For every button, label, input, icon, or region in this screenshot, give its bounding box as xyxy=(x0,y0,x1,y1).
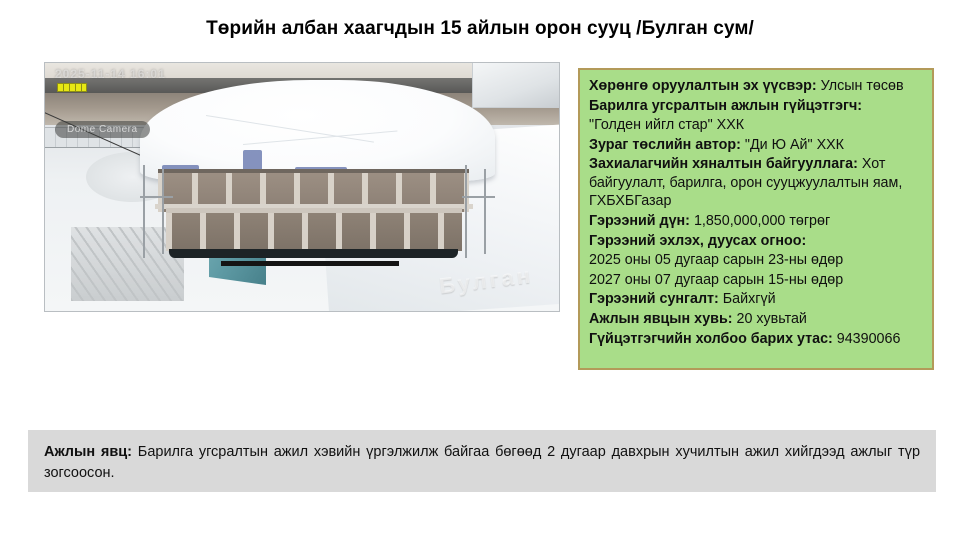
foreground-dark-bar xyxy=(221,261,399,266)
contract-amount-label: Гэрээний дүн: xyxy=(589,213,690,229)
first-floor-columns xyxy=(166,213,462,251)
designer-label: Зураг төслийн автор: xyxy=(589,137,741,153)
designer-value: "Ди Ю Ай" ХХК xyxy=(745,137,844,153)
info-row-extension: Гэрээний сунгалт: Байхгүй xyxy=(589,290,923,309)
contractor-label: Барилга угсралтын ажлын гүйцэтгэгч: xyxy=(589,98,862,114)
info-row-designer: Зураг төслийн автор: "Ди Ю Ай" ХХК xyxy=(589,136,923,155)
progress-value: 20 хувьтай xyxy=(737,311,807,327)
scaffold-rail-left xyxy=(140,196,173,198)
info-row-contract-amount: Гэрээний дүн: 1,850,000,000 төгрөг xyxy=(589,212,923,231)
status-label: Ажлын явц: xyxy=(44,444,132,460)
funding-source-value: Улсын төсөв xyxy=(821,78,904,94)
extension-label: Гэрээний сунгалт: xyxy=(589,291,719,307)
funding-source-label: Хөрөнгө оруулалтын эх үүсвэр: xyxy=(589,78,817,94)
phone-label: Гүйцэтгэгчийн холбоо барих утас: xyxy=(589,331,833,347)
contract-dates-label: Гэрээний эхлэх, дуусах огноо: xyxy=(589,233,806,249)
extension-value: Байхгүй xyxy=(723,291,776,307)
status-text: Барилга угсралтын ажил хэвийн үргэлжилж … xyxy=(44,444,920,481)
phone-value: 94390066 xyxy=(837,331,901,347)
contract-start-date: 2025 оны 05 дугаар сарын 23-ны өдөр xyxy=(589,251,923,270)
project-info-panel: Хөрөнгө оруулалтын эх үүсвэр: Улсын төсө… xyxy=(578,68,934,370)
info-row-contractor: Барилга угсралтын ажлын гүйцэтгэгч: xyxy=(589,97,923,116)
contract-amount-value: 1,850,000,000 төгрөг xyxy=(694,213,830,229)
info-row-funding-source: Хөрөнгө оруулалтын эх үүсвэр: Улсын төсө… xyxy=(589,77,923,96)
camera-label: Dome Camera xyxy=(55,121,150,138)
info-row-phone: Гүйцэтгэгчийн холбоо барих утас: 9439006… xyxy=(589,330,923,349)
work-progress-statusbar: Ажлын явц: Барилга угсралтын ажил хэвийн… xyxy=(28,430,936,492)
building-base-shadow xyxy=(169,249,458,259)
first-floor-frame xyxy=(166,208,462,251)
scaffold-right-2 xyxy=(484,169,486,254)
building-under-construction xyxy=(132,80,502,273)
photo-canvas: 2025-11-14 16:01 Dome Camera Булган xyxy=(45,63,559,311)
progress-label: Ажлын явцын хувь: xyxy=(589,311,733,327)
photo-corner-inset xyxy=(472,63,559,108)
contract-end-date: 2027 оны 07 дугаар сарын 15-ны өдөр xyxy=(589,271,923,290)
scaffold-left-2 xyxy=(162,169,164,254)
scaffold-left-1 xyxy=(143,165,145,258)
scaffold-rail-right xyxy=(462,196,495,198)
info-row-contract-dates: Гэрээний эхлэх, дуусах огноо: xyxy=(589,232,923,251)
scaffold-right-1 xyxy=(465,165,467,258)
site-photo: 2025-11-14 16:01 Dome Camera Булган xyxy=(44,62,560,312)
supervisor-label: Захиалагчийн хяналтын байгууллага: xyxy=(589,156,858,172)
page-title: Төрийн албан хаагчдын 15 айлын орон сууц… xyxy=(0,18,960,40)
contractor-value: "Голден ийгл стар" ХХК xyxy=(589,116,923,135)
info-row-supervisor: Захиалагчийн хяналтын байгууллага: Хот б… xyxy=(589,155,923,211)
camera-timestamp: 2025-11-14 16:01 xyxy=(55,67,166,81)
info-row-progress: Ажлын явцын хувь: 20 хувьтай xyxy=(589,310,923,329)
camera-status-indicator-icon xyxy=(57,83,87,92)
